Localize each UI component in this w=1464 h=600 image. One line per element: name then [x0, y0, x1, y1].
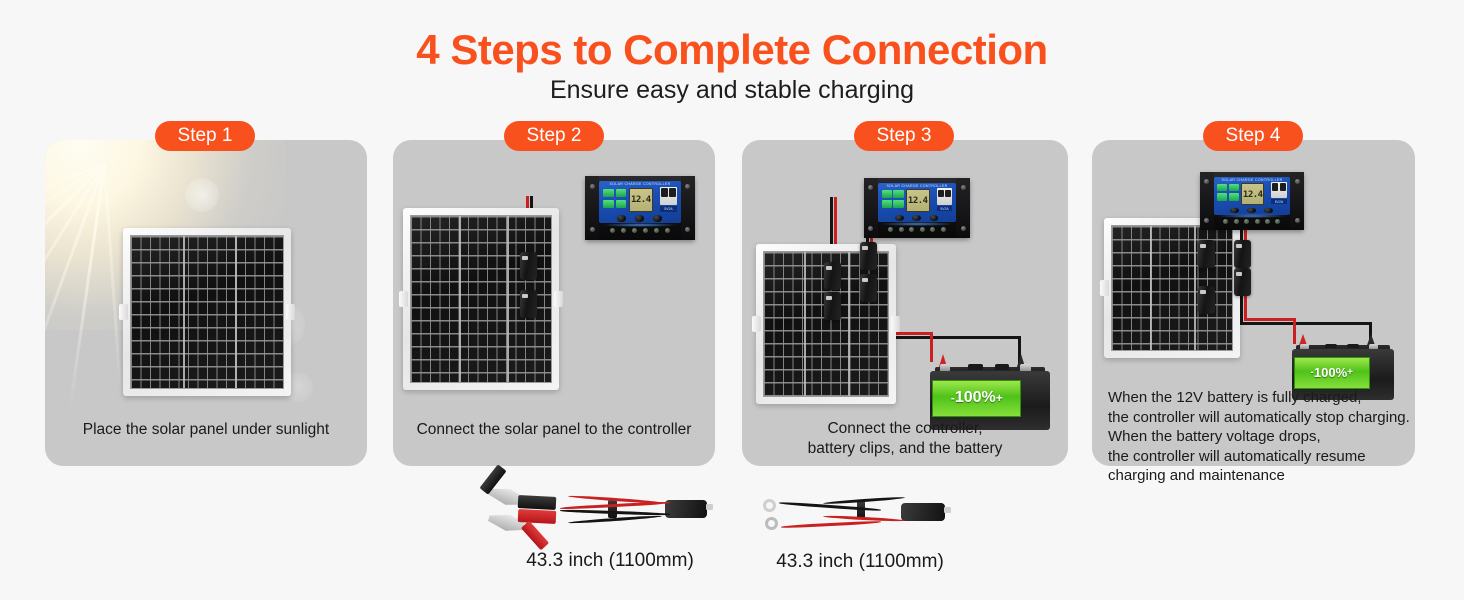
- usb-ports: [937, 188, 953, 205]
- accessory-length-label-2: 43.3 inch (1100mm): [745, 551, 975, 573]
- panel-busbar: [1150, 226, 1152, 350]
- wire-red: [1244, 294, 1247, 320]
- sae-connector-socket: [1234, 268, 1251, 296]
- load-status-icon: [882, 200, 892, 208]
- step-badge-4: Step 4: [1203, 121, 1303, 151]
- mode-status-icon: [1229, 193, 1239, 201]
- usb-rating-label: 5V2A: [937, 206, 953, 212]
- charge-controller: SOLAR CHARGE CONTROLLER 12.4 5V2A: [1200, 172, 1304, 230]
- battery-status-icon: [1217, 184, 1227, 192]
- accessory-battery-clip-cable: 43.3 inch (1100mm): [460, 478, 760, 548]
- controller-faceplate: SOLAR CHARGE CONTROLLER 12.4 5V2A: [1214, 177, 1291, 215]
- mode-status-icon: [893, 200, 903, 208]
- battery-status-icon: [882, 190, 892, 198]
- controller-mount-ear: [956, 178, 970, 238]
- controller-mount-ear: [585, 176, 599, 240]
- controller-lcd-display: 12.4: [629, 188, 653, 213]
- sae-connector-plug: [1234, 240, 1251, 268]
- panel-mount-tab: [1100, 280, 1109, 296]
- controller-terminals: [1221, 215, 1283, 228]
- panel-mount-tab: [119, 304, 128, 320]
- charge-controller: SOLAR CHARGE CONTROLLER 12.4 5V2A: [864, 178, 970, 238]
- controller-button-up[interactable]: [635, 215, 644, 221]
- sae-connector-plug: [520, 252, 537, 280]
- controller-brand-text: SOLAR CHARGE CONTROLLER: [878, 184, 956, 188]
- battery-vent-cap: [1325, 344, 1337, 348]
- sae-connector-socket: [520, 290, 537, 318]
- load-status-icon: [1217, 193, 1227, 201]
- clip-boot-black: [518, 495, 557, 510]
- controller-button-up[interactable]: [912, 215, 921, 221]
- step-caption-3-line-1: Connect the controller,: [742, 419, 1068, 439]
- controller-button-down[interactable]: [930, 215, 939, 221]
- step-badge-3: Step 3: [854, 121, 954, 151]
- lcd-voltage-value: 12.4: [631, 195, 651, 205]
- charge-controller: SOLAR CHARGE CONTROLLER 12.4 5V2A: [585, 176, 695, 240]
- battery-vent-cap: [1347, 344, 1359, 348]
- sae-connector-socket: [824, 292, 841, 320]
- clip-boot-red-tail: [521, 521, 549, 551]
- accessory-length-label-1: 43.3 inch (1100mm): [460, 550, 760, 572]
- sae-connector: [901, 503, 945, 521]
- clip-boot-red: [518, 509, 557, 524]
- step-caption-4: When the 12V battery is fully charged, t…: [1108, 388, 1438, 486]
- panel-mount-tab: [554, 291, 563, 307]
- controller-button-menu[interactable]: [1230, 208, 1238, 214]
- load-status-icon: [603, 200, 614, 208]
- usb-ports: [1271, 182, 1286, 198]
- lcd-voltage-value: 12.4: [908, 196, 928, 206]
- panel-busbar: [804, 252, 806, 396]
- step-caption-4-line-1: When the 12V battery is fully charged,: [1108, 388, 1438, 408]
- battery-vent-cap: [968, 364, 982, 369]
- controller-lcd-display: 12.4: [1241, 183, 1264, 205]
- panel-busbar: [183, 236, 185, 388]
- step-card-2: SOLAR CHARGE CONTROLLER 12.4 5V2A: [393, 140, 715, 466]
- controller-mount-ear: [1200, 172, 1214, 230]
- solar-cells: [130, 235, 284, 389]
- wire-black: [1240, 322, 1372, 325]
- ring-terminal-red: [765, 517, 778, 530]
- solar-status-icon: [1229, 184, 1239, 192]
- controller-button-menu[interactable]: [617, 215, 626, 221]
- panel-mount-tab: [752, 316, 761, 332]
- controller-button-up[interactable]: [1247, 208, 1255, 214]
- solar-panel: [123, 228, 291, 396]
- controller-mount-ear: [681, 176, 695, 240]
- controller-button-menu[interactable]: [895, 215, 904, 221]
- usb-ports: [660, 187, 676, 205]
- panel-mount-tab: [891, 316, 900, 332]
- solar-panel: [1104, 218, 1240, 358]
- controller-button-down[interactable]: [1264, 208, 1272, 214]
- sae-connector-socket: [1198, 286, 1215, 314]
- controller-faceplate: SOLAR CHARGE CONTROLLER 12.4 5V2A: [878, 183, 956, 223]
- wire-red: [781, 520, 881, 528]
- page-title: 4 Steps to Complete Connection: [0, 26, 1464, 74]
- step-caption-2: Connect the solar panel to the controlle…: [393, 420, 715, 439]
- infographic-root: 4 Steps to Complete Connection Ensure ea…: [0, 0, 1464, 600]
- controller-lcd-display: 12.4: [906, 189, 930, 212]
- battery-vent-cap: [995, 364, 1009, 369]
- battery-charge-value: 100%: [1314, 365, 1347, 380]
- mode-status-icon: [616, 200, 627, 208]
- battery-charge-label: -100%+: [932, 380, 1021, 417]
- sae-connector: [665, 500, 707, 518]
- ring-terminal-black: [763, 499, 776, 512]
- sae-connector-socket: [860, 274, 877, 302]
- solar-status-icon: [893, 190, 903, 198]
- controller-terminals: [607, 223, 673, 237]
- battery-plus-sign: +: [996, 391, 1003, 405]
- step-caption-3: Connect the controller, battery clips, a…: [742, 419, 1068, 459]
- step-badge-1: Step 1: [155, 121, 255, 151]
- step-card-3: SOLAR CHARGE CONTROLLER 12.4 5V2A: [742, 140, 1068, 466]
- controller-terminals: [885, 222, 949, 235]
- controller-button-down[interactable]: [653, 215, 662, 221]
- step-caption-4-line-2: the controller will automatically stop c…: [1108, 408, 1438, 428]
- battery-plus-sign: +: [1347, 367, 1353, 378]
- page-subtitle: Ensure easy and stable charging: [0, 76, 1464, 105]
- panel-busbar: [459, 216, 461, 382]
- sae-connector-plug: [824, 262, 841, 290]
- step-caption-4-line-4: the controller will automatically resume: [1108, 447, 1438, 467]
- step-card-1: [45, 140, 367, 466]
- controller-mount-ear: [1290, 172, 1304, 230]
- cable-tie: [608, 500, 617, 518]
- panel-busbar: [848, 252, 850, 396]
- step-caption-4-line-3: When the battery voltage drops,: [1108, 427, 1438, 447]
- sae-connector-plug: [1198, 240, 1215, 268]
- wire-black: [1240, 294, 1243, 324]
- panel-busbar: [507, 216, 509, 382]
- controller-brand-text: SOLAR CHARGE CONTROLLER: [599, 182, 680, 186]
- controller-mount-ear: [864, 178, 878, 238]
- battery-status-icon: [603, 189, 614, 197]
- usb-rating-label: 5V2A: [1271, 199, 1286, 204]
- lcd-voltage-value: 12.4: [1243, 190, 1263, 200]
- step-caption-3-line-2: battery clips, and the battery: [742, 439, 1068, 459]
- panel-mount-tab: [286, 304, 295, 320]
- panel-busbar: [235, 236, 237, 388]
- step-badge-2: Step 2: [504, 121, 604, 151]
- accessory-ring-terminal-cable: 43.3 inch (1100mm): [745, 485, 975, 545]
- step-caption-4-line-5: charging and maintenance: [1108, 466, 1438, 486]
- lens-flare-orb: [185, 178, 219, 212]
- controller-faceplate: SOLAR CHARGE CONTROLLER 12.4 5V2A: [599, 181, 680, 223]
- usb-rating-label: 5V2A: [660, 206, 676, 212]
- solar-status-icon: [616, 189, 627, 197]
- panel-busbar: [1194, 226, 1196, 350]
- battery-charge-label: -100%+: [1294, 357, 1369, 389]
- wire-red: [1244, 318, 1296, 321]
- step-caption-1: Place the solar panel under sunlight: [45, 420, 367, 439]
- battery-charge-value: 100%: [955, 389, 996, 407]
- panel-mount-tab: [399, 291, 408, 307]
- sae-connector-plug: [860, 242, 877, 270]
